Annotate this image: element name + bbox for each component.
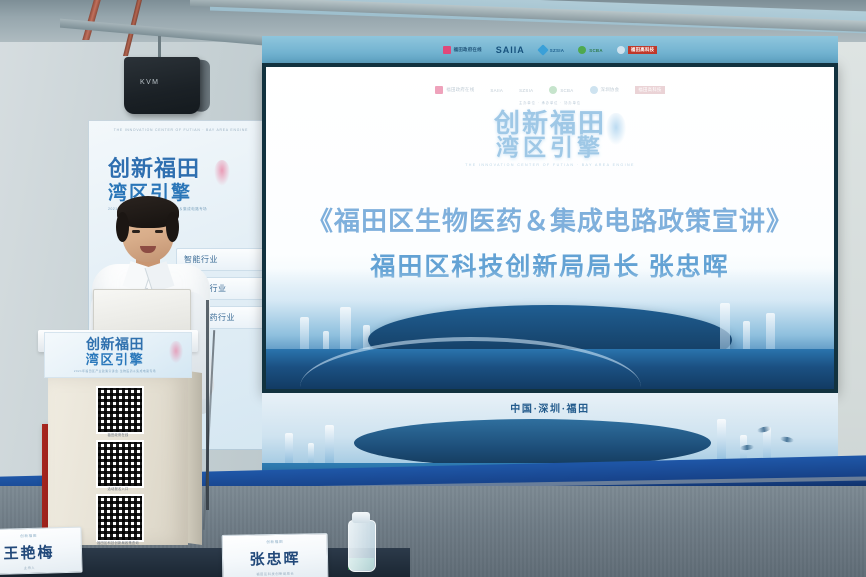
slide-sponsor-5: 深圳协会 bbox=[590, 86, 620, 94]
podium-brand-line2: 湾区引擎 bbox=[63, 353, 167, 367]
podium-brand-line1: 创新福田 bbox=[63, 339, 167, 353]
podium-front-band: 创新福田 湾区引擎 2021年福田区产业政策宣讲会·生物医药＆集成电路专场 bbox=[44, 332, 192, 378]
speaker-eye-left bbox=[132, 230, 140, 233]
slide-sponsor-text-1: 福田政府在线 bbox=[446, 87, 474, 93]
nameplate-role-1: 主持人 bbox=[0, 564, 81, 572]
slide-sponsor-1: 福田政府在线 bbox=[435, 86, 474, 94]
qr-caption-1: 福田政府在线 bbox=[82, 432, 154, 437]
slide-title: 《福田区生物医药＆集成电路政策宣讲》 bbox=[266, 201, 834, 238]
slide-sponsor-icon-5 bbox=[590, 86, 598, 94]
slide-skyline-graphic bbox=[266, 269, 834, 389]
wall-banner-tagline: THE INNOVATION CENTER OF FUTIAN · BAY AR… bbox=[96, 128, 266, 132]
ceiling-speaker: KVM bbox=[124, 57, 200, 114]
slide-sponsor-text-6: 福田高科技 bbox=[635, 86, 664, 94]
podium: 福田政府在线 活动报名入口 福田区科技创新局政策咨询 创新福田 湾区引擎 202… bbox=[38, 330, 198, 545]
speaker-mount-bracket bbox=[158, 36, 161, 58]
qr-code-official-account[interactable] bbox=[96, 386, 144, 434]
stage-bird-2 bbox=[780, 436, 795, 443]
top-logo-text-3: SZSIA bbox=[550, 48, 564, 53]
kvm-label: KVM bbox=[140, 79, 159, 86]
podium-body: 福田政府在线 活动报名入口 福田区科技创新局政策咨询 bbox=[48, 376, 188, 545]
slide-brand-line2: 湾区引擎 bbox=[494, 136, 606, 159]
slide-sponsor-icon-4 bbox=[549, 86, 557, 94]
nameplate-logo-2: 创新福田 bbox=[223, 539, 327, 546]
nameplate-name-2: 张忠晖 bbox=[223, 547, 327, 570]
podium-accent-icon bbox=[169, 341, 183, 363]
slide-sponsor-6: 福田高科技 bbox=[635, 86, 664, 94]
top-sponsor-banner: 福田政府在线 SAIIA SZSIA SCBA 福田高科技 bbox=[262, 36, 838, 64]
top-logo-futian-government: 福田政府在线 bbox=[443, 46, 482, 54]
stage-bird-3 bbox=[740, 444, 754, 450]
slide-sponsor-text-2: SAIIA bbox=[490, 88, 503, 93]
podium-brand-logo: 创新福田 湾区引擎 2021年福田区产业政策宣讲会·生物医药＆集成电路专场 bbox=[63, 339, 167, 373]
slide-sponsor-icon-1 bbox=[435, 86, 443, 94]
top-logo-szsia: SZSIA bbox=[539, 46, 564, 54]
top-logo-text-2: SAIIA bbox=[496, 45, 525, 55]
stage-panel-caption: 中国·深圳·福田 bbox=[262, 400, 838, 415]
scba-leaf-icon bbox=[578, 46, 586, 54]
slide-brand-logo: 创新福田 湾区引擎 THE INNOVATION CENTER OF FUTIA… bbox=[266, 111, 834, 167]
slide-sponsor-2: SAIIA bbox=[490, 88, 503, 93]
slide-sponsor-3: SZSIA bbox=[519, 88, 533, 93]
nameplate-wang-yanmei: 创新福田 王艳梅 主持人 bbox=[0, 527, 83, 576]
podium-side bbox=[188, 371, 202, 545]
speaker-hair-right bbox=[166, 212, 179, 242]
slide-sponsor-text-4: SCBA bbox=[560, 88, 573, 93]
slide-brand-line1: 创新福田 bbox=[494, 111, 606, 136]
slide-sponsor-text-5: 深圳协会 bbox=[601, 87, 620, 93]
nameplate-role-2: 福田区科技创新局局长 bbox=[223, 570, 327, 577]
conference-room-photo: KVM THE INNOVATION CENTER OF FUTIAN · BA… bbox=[0, 0, 866, 577]
projection-screen: 福田政府在线 SAIIA SZSIA SCBA 深圳协会 福田高科技 bbox=[266, 67, 834, 389]
podium-brand-sub: 2021年福田区产业政策宣讲会·生物医药＆集成电路专场 bbox=[63, 369, 167, 373]
nameplate-name-1: 王艳梅 bbox=[0, 541, 81, 565]
top-logo-text-5: 福田高科技 bbox=[628, 46, 657, 54]
slide-sponsor-subtext: 主办单位 · 承办单位 · 协办单位 bbox=[266, 100, 834, 105]
qr-code-registration[interactable] bbox=[96, 440, 144, 488]
top-logo-text-4: SCBA bbox=[589, 48, 603, 53]
qr-code-policy[interactable] bbox=[96, 494, 144, 542]
top-logo-text-1: 福田政府在线 bbox=[454, 47, 482, 53]
futian-government-online-icon bbox=[443, 46, 451, 54]
slide-sponsor-row: 福田政府在线 SAIIA SZSIA SCBA 深圳协会 福田高科技 bbox=[266, 81, 834, 99]
top-logo-saiia: SAIIA bbox=[496, 45, 525, 55]
top-logo-futian-hitech: 福田高科技 bbox=[617, 46, 657, 54]
water-bottle bbox=[348, 520, 376, 572]
szsia-diamond-icon bbox=[537, 44, 548, 55]
top-logo-scba: SCBA bbox=[578, 46, 603, 54]
wall-banner-brand-line1: 创新福田 bbox=[108, 158, 256, 180]
speaker-hair-left bbox=[116, 212, 129, 242]
speaker-eye-right bbox=[155, 230, 163, 233]
qr-caption-2: 活动报名入口 bbox=[82, 486, 154, 491]
futian-hitech-circle-icon bbox=[617, 46, 625, 54]
wall-banner-accent-icon bbox=[214, 160, 230, 186]
nameplate-zhang-zhonghui: 创新福田 张忠晖 福田区科技创新局局长 bbox=[222, 533, 329, 577]
slide-brand-sub: THE INNOVATION CENTER OF FUTIAN · BAY AR… bbox=[266, 163, 834, 167]
slide-sponsor-4: SCBA bbox=[549, 86, 573, 94]
nameplate-logo-1: 创新福田 bbox=[0, 533, 81, 541]
slide-sponsor-text-3: SZSIA bbox=[519, 88, 533, 93]
water-bottle-cap bbox=[352, 512, 370, 523]
slide-brand-accent-icon bbox=[606, 113, 626, 145]
qr-caption-3: 福田区科技创新局政策咨询 bbox=[82, 540, 154, 545]
projection-screen-frame: 福田政府在线 SAIIA SZSIA SCBA 深圳协会 福田高科技 bbox=[262, 63, 838, 393]
